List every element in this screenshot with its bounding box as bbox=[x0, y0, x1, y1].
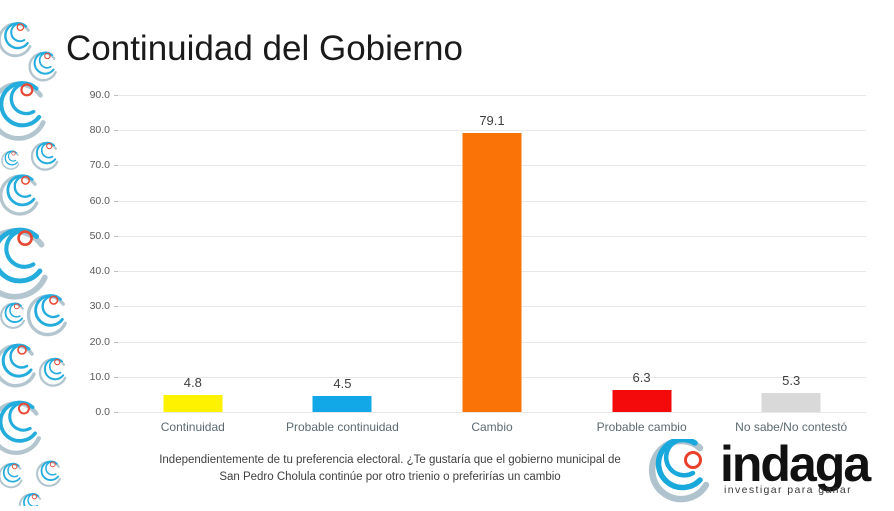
y-axis-tick-label: 60.0 bbox=[90, 195, 110, 207]
ornament-marks-icon bbox=[0, 0, 88, 506]
brand-wordmark: indaga bbox=[720, 439, 869, 489]
brand-tagline: investigar para ganar bbox=[724, 484, 852, 496]
bars-layer: 4.84.579.16.35.3 bbox=[118, 95, 866, 412]
bar[interactable] bbox=[762, 393, 821, 412]
y-axis-tick-label: 70.0 bbox=[90, 159, 110, 171]
bar-slot: 79.1 bbox=[417, 95, 567, 412]
y-axis-tick-label: 50.0 bbox=[90, 230, 110, 242]
bar-slot: 4.8 bbox=[118, 95, 268, 412]
gridline bbox=[118, 412, 866, 413]
bar-value-label: 4.5 bbox=[333, 376, 351, 391]
chart-title: Continuidad del Gobierno bbox=[66, 30, 463, 69]
bar[interactable] bbox=[462, 133, 521, 412]
brand-logo: indaga investigar para ganar bbox=[648, 437, 894, 506]
bar-value-label: 5.3 bbox=[782, 373, 800, 388]
bar-value-label: 4.8 bbox=[184, 375, 202, 390]
bar[interactable] bbox=[313, 396, 372, 412]
bar[interactable] bbox=[163, 395, 222, 412]
y-axis-tick-label: 0.0 bbox=[95, 406, 110, 418]
decorative-ornament-column bbox=[0, 0, 88, 506]
y-axis-tick-label: 20.0 bbox=[90, 336, 110, 348]
category-axis-label: Probable continuidad bbox=[286, 420, 399, 434]
category-axis-label: Probable cambio bbox=[597, 420, 687, 434]
bar-value-label: 6.3 bbox=[633, 370, 651, 385]
category-axis-label: No sabe/No contestó bbox=[735, 420, 847, 434]
y-axis-tick bbox=[114, 412, 118, 413]
bar-slot: 5.3 bbox=[716, 95, 866, 412]
y-axis-tick-label: 10.0 bbox=[90, 371, 110, 383]
bar-slot: 4.5 bbox=[268, 95, 418, 412]
chart-caption: Independientemente de tu preferencia ele… bbox=[150, 452, 630, 485]
y-axis-tick-label: 80.0 bbox=[90, 124, 110, 136]
indaga-circle-mark-icon bbox=[648, 439, 718, 505]
bar[interactable] bbox=[612, 390, 671, 412]
y-axis-tick-label: 40.0 bbox=[90, 265, 110, 277]
category-axis-label: Cambio bbox=[471, 420, 512, 434]
category-axis-label: Continuidad bbox=[161, 420, 225, 434]
y-axis-tick-label: 90.0 bbox=[90, 89, 110, 101]
bar-slot: 6.3 bbox=[567, 95, 717, 412]
bar-value-label: 79.1 bbox=[479, 113, 504, 128]
y-axis-tick-label: 30.0 bbox=[90, 300, 110, 312]
